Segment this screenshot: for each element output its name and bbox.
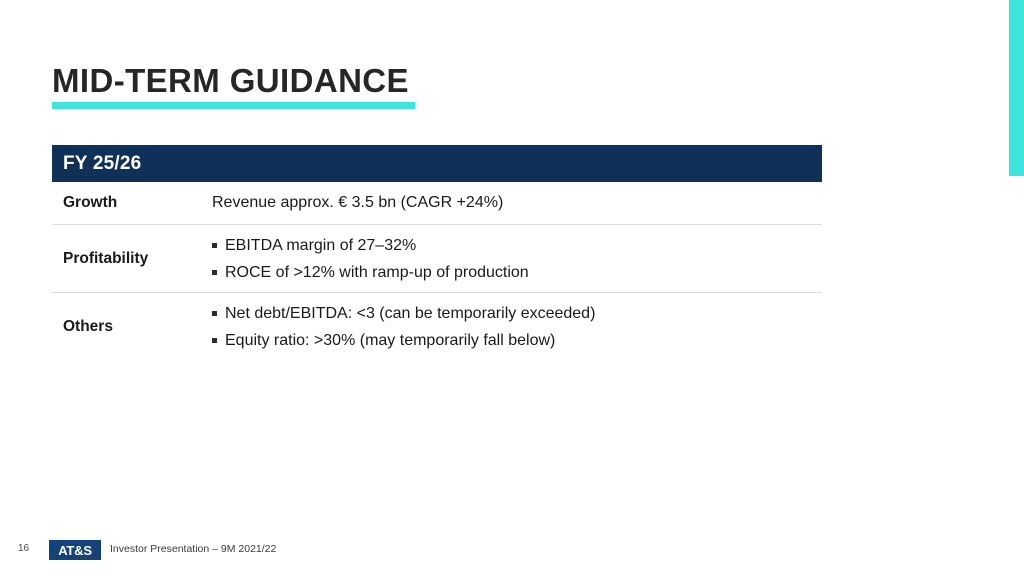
table-header-label: FY 25/26 [63,153,141,175]
row-content-profitability: EBITDA margin of 27–32% ROCE of >12% wit… [212,232,822,286]
list-item: ROCE of >12% with ramp-up of production [212,259,822,286]
slide-footer: 16 AT&S Investor Presentation – 9M 2021/… [0,540,1024,566]
title-underline [52,102,415,109]
bullet-list: Net debt/EBITDA: <3 (can be temporarily … [212,300,822,354]
table-row: Profitability EBITDA margin of 27–32% RO… [52,225,822,293]
table-row: Growth Revenue approx. € 3.5 bn (CAGR +2… [52,182,822,225]
slide-canvas: MID-TERM GUIDANCE FY 25/26 Growth Revenu… [0,0,1024,576]
page-number: 16 [18,543,29,554]
list-item: Net debt/EBITDA: <3 (can be temporarily … [212,300,822,327]
bullet-list: EBITDA margin of 27–32% ROCE of >12% wit… [212,232,822,286]
row-label-profitability: Profitability [52,250,212,268]
accent-bar-teal [1009,0,1024,176]
row-content-others: Net debt/EBITDA: <3 (can be temporarily … [212,300,822,354]
list-item: Equity ratio: >30% (may temporarily fall… [212,327,822,354]
table-row: Others Net debt/EBITDA: <3 (can be tempo… [52,293,822,361]
footer-caption: Investor Presentation – 9M 2021/22 [110,543,276,555]
list-item: EBITDA margin of 27–32% [212,232,822,259]
page-title-text: MID-TERM GUIDANCE [52,62,415,100]
row-text: Revenue approx. € 3.5 bn (CAGR +24%) [212,192,822,214]
table-header: FY 25/26 [52,145,822,182]
row-content-growth: Revenue approx. € 3.5 bn (CAGR +24%) [212,192,822,214]
ats-logo: AT&S [49,540,101,560]
guidance-table: FY 25/26 Growth Revenue approx. € 3.5 bn… [52,145,822,361]
row-label-others: Others [52,318,212,336]
page-title: MID-TERM GUIDANCE [52,62,415,109]
row-label-growth: Growth [52,194,212,212]
